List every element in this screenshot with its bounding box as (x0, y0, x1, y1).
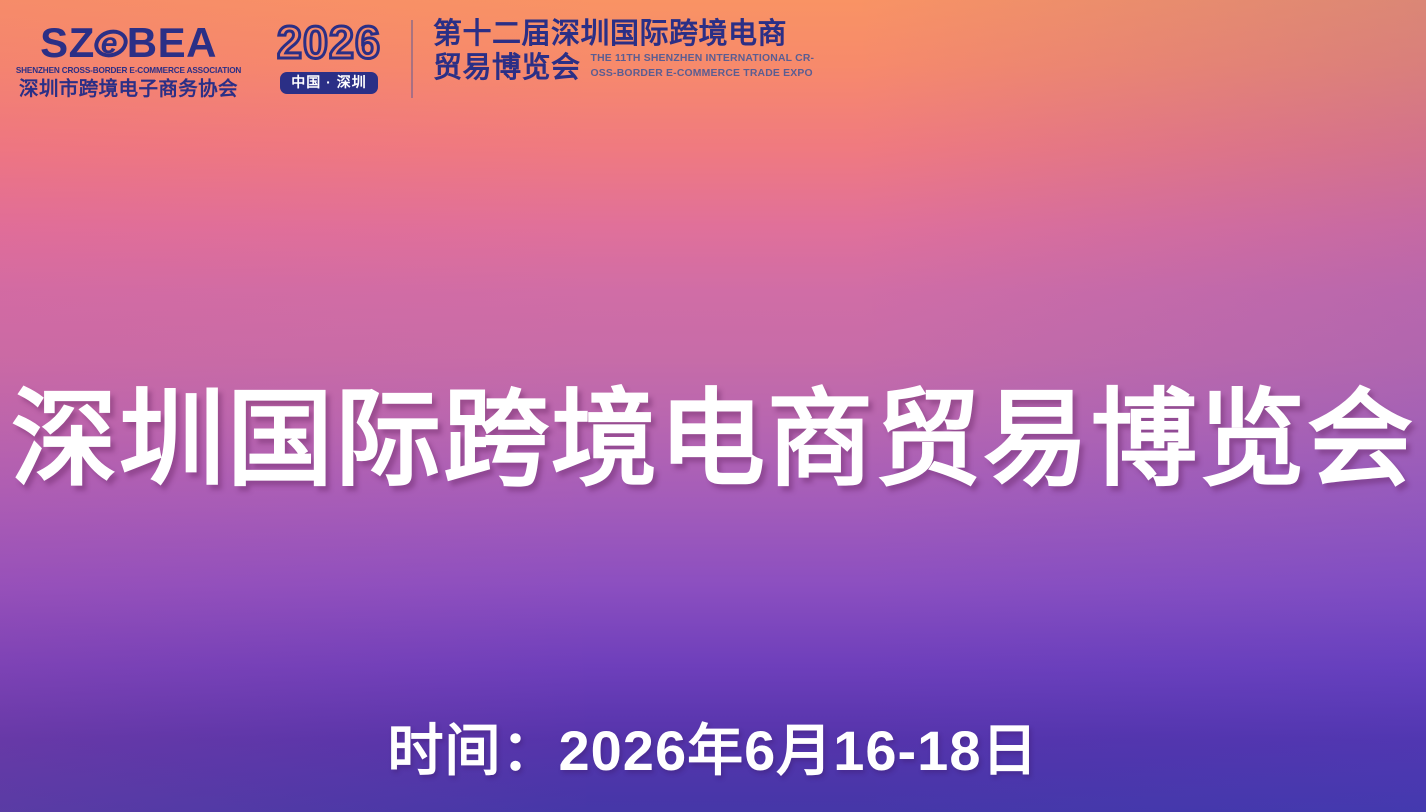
expo-name-line2: 贸易博览会 (433, 53, 581, 84)
year-badge: 2026 中国 · 深圳 (269, 18, 389, 94)
association-logo: SZ e BEA SHENZHEN CROSS-BORDER E-COMMERC… (26, 18, 231, 101)
event-info-block: 时间：2026年6月16-18日 地点：深圳会展中心（福田） (0, 723, 1426, 812)
expo-english-line2: OSS-BORDER E-COMMERCE TRADE EXPO (591, 67, 815, 81)
expo-english-line1: THE 11TH SHENZHEN INTERNATIONAL CR- (591, 52, 815, 66)
expo-name-row2: 贸易博览会 THE 11TH SHENZHEN INTERNATIONAL CR… (433, 52, 814, 84)
expo-name-line1: 第十二届深圳国际跨境电商 (433, 19, 814, 50)
year-number: 2026 (277, 20, 381, 65)
expo-name-block: 第十二届深圳国际跨境电商 贸易博览会 THE 11TH SHENZHEN INT… (433, 18, 814, 84)
vertical-divider (411, 20, 413, 98)
globe-e-icon: e (94, 27, 128, 60)
association-wordmark: SZ e BEA (40, 22, 217, 64)
expo-english-name: THE 11TH SHENZHEN INTERNATIONAL CR- OSS-… (591, 52, 815, 84)
main-title: 深圳国际跨境电商贸易博览会 (0, 381, 1426, 500)
location-pill: 中国 · 深圳 (280, 72, 377, 94)
wordmark-bea: BEA (127, 22, 217, 64)
globe-e-letter: e (101, 29, 118, 59)
association-chinese-name: 深圳市跨境电子商务协会 (19, 78, 238, 100)
event-date: 时间：2026年6月16-18日 (0, 723, 1426, 779)
promotional-banner: SZ e BEA SHENZHEN CROSS-BORDER E-COMMERC… (0, 0, 1426, 812)
header-logo-strip: SZ e BEA SHENZHEN CROSS-BORDER E-COMMERC… (26, 18, 1426, 104)
association-english-name: SHENZHEN CROSS-BORDER E-COMMERCE ASSOCIA… (16, 67, 241, 75)
wordmark-sz: SZ (40, 22, 95, 64)
